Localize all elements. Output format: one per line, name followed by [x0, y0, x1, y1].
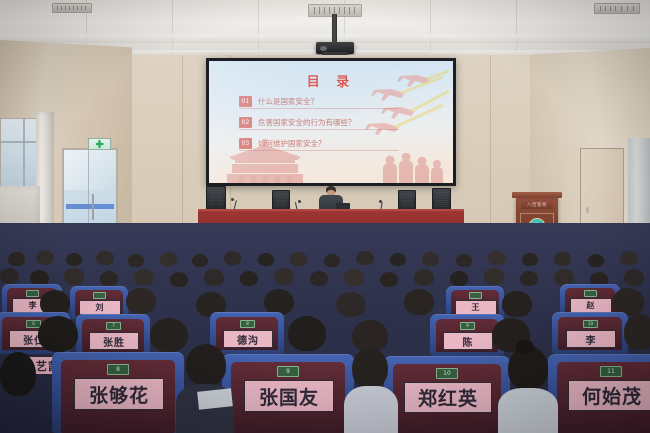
seat-name-card: 刘 [79, 300, 121, 315]
seat-name-card: 张够花 [74, 378, 164, 410]
seat-name-card: 郑红英 [404, 382, 492, 413]
seat[interactable]: 10 郑红英 [384, 356, 510, 433]
seat-number-tag: 9 [277, 366, 299, 377]
seat-number-tag: 10 [436, 368, 458, 379]
ceiling-tile [172, 0, 259, 52]
speaker-cabinet [206, 186, 226, 210]
seat-number-tag: 8 [107, 364, 129, 375]
paper-sheet [197, 388, 233, 409]
auditorium-photo: 目 录 01 什么是国家安全？ 02 危害国家安全的行为有哪些？ 03 如何维护… [0, 0, 650, 433]
seat-name-card: 张胜 [89, 332, 139, 350]
seat-name-card: 赵 [570, 298, 612, 313]
seat-name-card: 李 [566, 330, 616, 348]
speaker-cabinet [272, 190, 290, 211]
podium-nameplate: 八西警察 [521, 201, 553, 209]
seat-number-tag: 9 [460, 322, 475, 330]
projection-screen: 目 录 01 什么是国家安全？ 02 危害国家安全的行为有哪些？ 03 如何维护… [206, 58, 456, 186]
seat-number-tag: 8 [240, 320, 255, 328]
air-vent [594, 3, 640, 14]
attendee-shoulders [498, 388, 558, 433]
attendee-head [352, 348, 388, 388]
seat[interactable]: 9 张国友 [222, 354, 354, 433]
seat[interactable]: 7 张胜 [76, 314, 150, 356]
seat-name-card: 陈 [443, 332, 493, 350]
seat[interactable]: 11 何始茂 [548, 354, 650, 433]
screen-glare [209, 61, 453, 183]
ceiling-tile [430, 0, 517, 54]
emergency-exit-sign [88, 138, 111, 150]
speaker-cabinet [432, 188, 451, 211]
seat-number-tag [584, 290, 597, 297]
podium-top [512, 192, 562, 198]
seat-number-tag: 7 [106, 322, 121, 330]
attendee-head [150, 318, 188, 352]
seat-number-tag [469, 292, 482, 299]
air-vent [52, 3, 92, 13]
exit-cross-icon [96, 140, 104, 148]
attendee-head [288, 316, 326, 351]
attendee-shoulders [344, 386, 398, 433]
seat[interactable]: 8 德沟 [210, 312, 284, 354]
seat[interactable]: 8 张够花 [52, 352, 184, 433]
attendee-hair-bun [516, 340, 534, 354]
attendee-head [38, 316, 78, 352]
attendee-head [186, 344, 226, 386]
seat-name-card: 何始茂 [568, 380, 650, 411]
seat-name-card: 张国友 [244, 380, 334, 412]
seat-name-card: 德沟 [223, 330, 273, 348]
seat-number-tag: 10 [583, 320, 598, 328]
attendee-head [624, 314, 650, 350]
seat-number-tag [26, 290, 39, 297]
seat-name-card: 王 [455, 300, 497, 315]
seat-number-tag: 11 [600, 366, 622, 377]
projector-mount-pole [332, 14, 337, 44]
seat-number-tag [93, 292, 106, 299]
seat[interactable]: 10 李 [552, 312, 628, 354]
speaker-cabinet [398, 190, 416, 211]
attendee-head [0, 352, 36, 396]
